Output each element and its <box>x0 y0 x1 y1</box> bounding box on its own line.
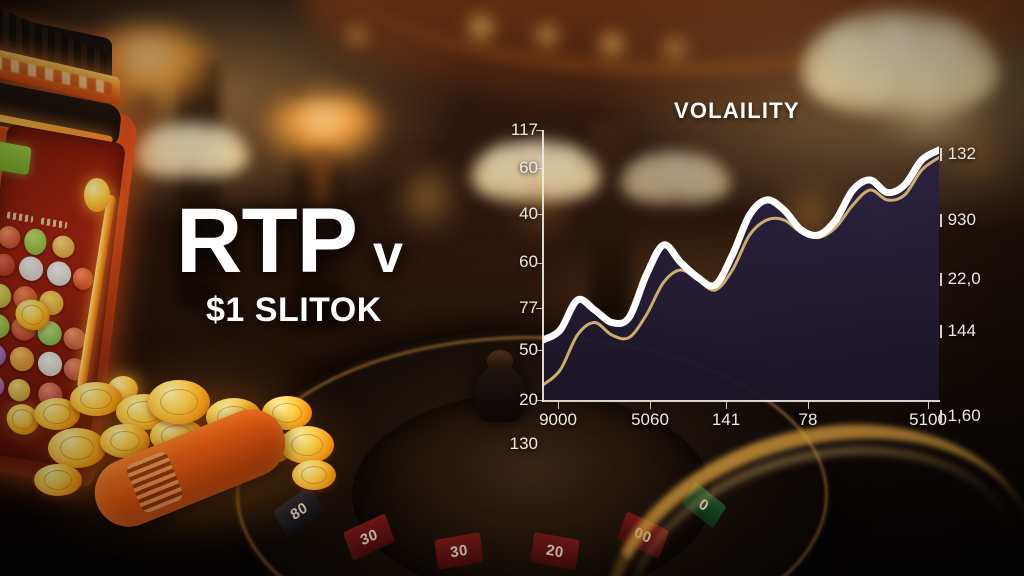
slot-symbol-bar <box>18 255 45 283</box>
slot-symbol <box>51 234 76 260</box>
slot-symbol <box>0 224 22 250</box>
slot-symbol <box>7 377 32 403</box>
slot-symbol <box>0 282 13 310</box>
chart-x-tick <box>928 402 929 409</box>
chart-right-tick <box>940 214 942 227</box>
chart-right-tick <box>940 273 942 286</box>
chart-y-label: 20 <box>488 390 538 410</box>
volatility-chart: VOLAILITY <box>488 86 958 456</box>
coin-icon <box>148 380 210 424</box>
chart-right-label-text: 1,60 <box>948 406 981 426</box>
ceiling-bulb-icon <box>600 32 624 56</box>
headline-main-suffix: v <box>373 224 402 284</box>
chart-right-label: 22,0 <box>940 269 981 289</box>
slot-symbol <box>0 342 7 368</box>
chart-x-label: 141 <box>712 410 740 430</box>
ceiling-bulb-icon <box>468 14 494 40</box>
chart-right-label: 132 <box>940 144 976 164</box>
chart-right-tick <box>940 410 942 423</box>
chart-right-tick <box>940 148 942 161</box>
coin-icon <box>292 460 336 490</box>
slot-symbol <box>72 266 95 292</box>
slot-symbol <box>9 345 36 373</box>
slot-screen-green-tab <box>0 141 32 176</box>
chart-x-axis <box>542 400 940 402</box>
chart-y-label: 60 <box>488 158 538 178</box>
slot-symbol <box>0 312 11 340</box>
chart-right-label: 930 <box>940 210 976 230</box>
headline-main: RTPv <box>176 198 506 285</box>
chart-x-label: 78 <box>799 410 818 430</box>
chart-right-label-text: 144 <box>948 321 976 341</box>
chart-x-tick <box>650 402 651 409</box>
headline-sub: $1 SLITOK <box>206 291 506 330</box>
coin-icon <box>70 382 122 416</box>
chart-right-label: 144 <box>940 321 976 341</box>
chart-y-label: 50 <box>488 340 538 360</box>
chart-x-tick <box>808 402 809 409</box>
coin-icon <box>34 464 82 496</box>
reel-label <box>7 211 34 223</box>
slot-lever-knob <box>84 178 110 212</box>
chart-right-label-text: 930 <box>948 210 976 230</box>
chart-title: VOLAILITY <box>674 98 800 124</box>
coin-icon <box>280 426 334 464</box>
chart-x-tick <box>726 402 727 409</box>
chart-plot-area <box>543 130 939 400</box>
chart-right-tick <box>940 325 942 338</box>
headline-main-text: RTP <box>176 190 357 292</box>
slot-symbol-bar <box>46 259 73 287</box>
coin-pile <box>30 372 370 572</box>
chart-x-label: 5060 <box>631 410 669 430</box>
reel-label <box>41 217 68 229</box>
slot-symbol <box>23 227 48 257</box>
chart-y-label: 130 <box>488 434 538 454</box>
chart-x-label: 9000 <box>539 410 577 430</box>
chart-right-label-text: 22,0 <box>948 269 981 289</box>
slot-symbol <box>0 373 6 399</box>
chart-right-label-text: 132 <box>948 144 976 164</box>
ceiling-bulb-icon <box>665 38 685 58</box>
chart-x-tick <box>558 402 559 409</box>
slot-symbol <box>0 252 16 278</box>
headline-block: RTPv $1 SLITOK <box>176 198 506 330</box>
ceiling-bulb-icon <box>348 26 366 44</box>
chart-y-axis <box>542 130 544 402</box>
ceiling-bulb-icon <box>536 24 558 46</box>
chart-right-label: 1,60 <box>940 406 981 426</box>
chart-y-label: 117 <box>488 120 538 140</box>
coin-icon <box>48 428 106 468</box>
chart-svg <box>543 130 939 400</box>
casino-rtp-banner: 80 30 30 20 00 0 <box>0 0 1024 576</box>
